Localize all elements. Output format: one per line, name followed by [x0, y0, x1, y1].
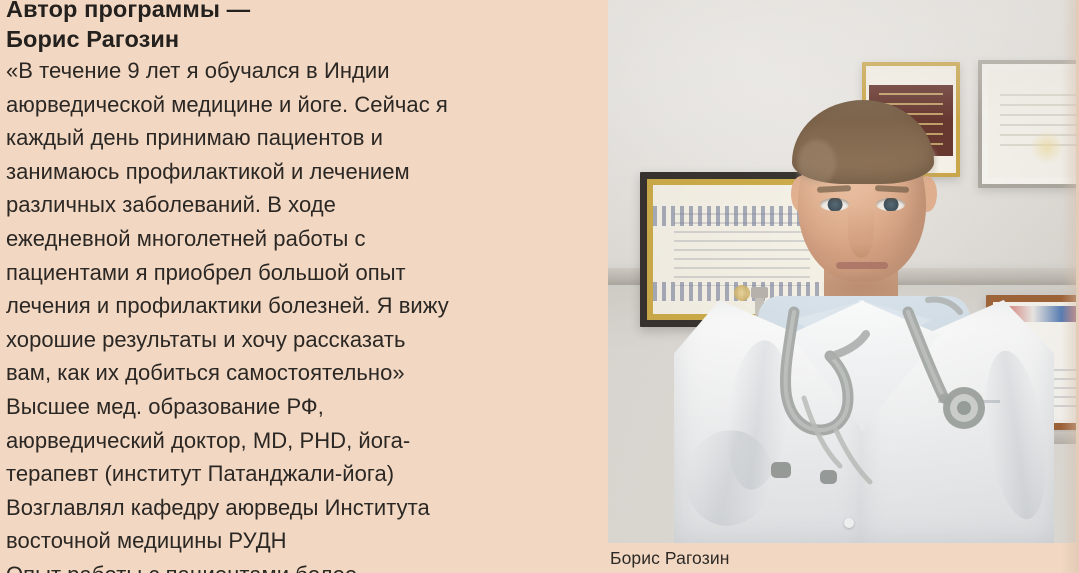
person-mouth [836, 262, 888, 269]
author-bio-section: Автор программы — Борис Рагозин «В течен… [0, 0, 1079, 573]
person-hair [792, 100, 934, 184]
bio-line: Опыт работы с пациентами более [6, 558, 546, 573]
person-figure [608, 0, 1076, 543]
lab-coat-button [844, 518, 854, 528]
person-eye-right [876, 198, 905, 211]
bio-paragraph: «В течение 9 лет я обучался в Индии аюрв… [6, 54, 546, 573]
author-photo-block: Борис Рагозин [608, 0, 1076, 573]
person-nose [848, 206, 874, 258]
bio-line: ежедневной многолетней работы с [6, 222, 546, 256]
bio-line: аюрведической медицине и йоге. Сейчас я [6, 88, 546, 122]
bio-line: восточной медицины РУДН [6, 524, 546, 558]
bio-line: «В течение 9 лет я обучался в Индии [6, 54, 546, 88]
bio-line: лечения и профилактики болезней. Я вижу [6, 289, 546, 323]
bio-line: вам, как их добиться самостоятельно» [6, 356, 546, 390]
bio-line: пациентами я приобрел большой опыт [6, 256, 546, 290]
bio-line: каждый день принимаю пациентов и [6, 121, 546, 155]
bio-line: Возглавлял кафедру аюрведы Института [6, 491, 546, 525]
bio-line: хорошие результаты и хочу рассказать [6, 323, 546, 357]
bio-line: аюрведический доктор, MD, PHD, йога- [6, 424, 546, 458]
bio-line: различных заболеваний. В ходе [6, 188, 546, 222]
bio-text-column: Автор программы — Борис Рагозин «В течен… [6, 0, 546, 573]
photo-caption: Борис Рагозин [610, 547, 729, 569]
author-photo [608, 0, 1076, 543]
bio-line: терапевт (институт Патанджали-йога) [6, 457, 546, 491]
person-eye-left [820, 198, 849, 211]
bio-line: занимаюсь профилактикой и лечением [6, 155, 546, 189]
bio-line: Высшее мед. образование РФ, [6, 390, 546, 424]
page-title: Автор программы — Борис Рагозин [6, 0, 546, 54]
